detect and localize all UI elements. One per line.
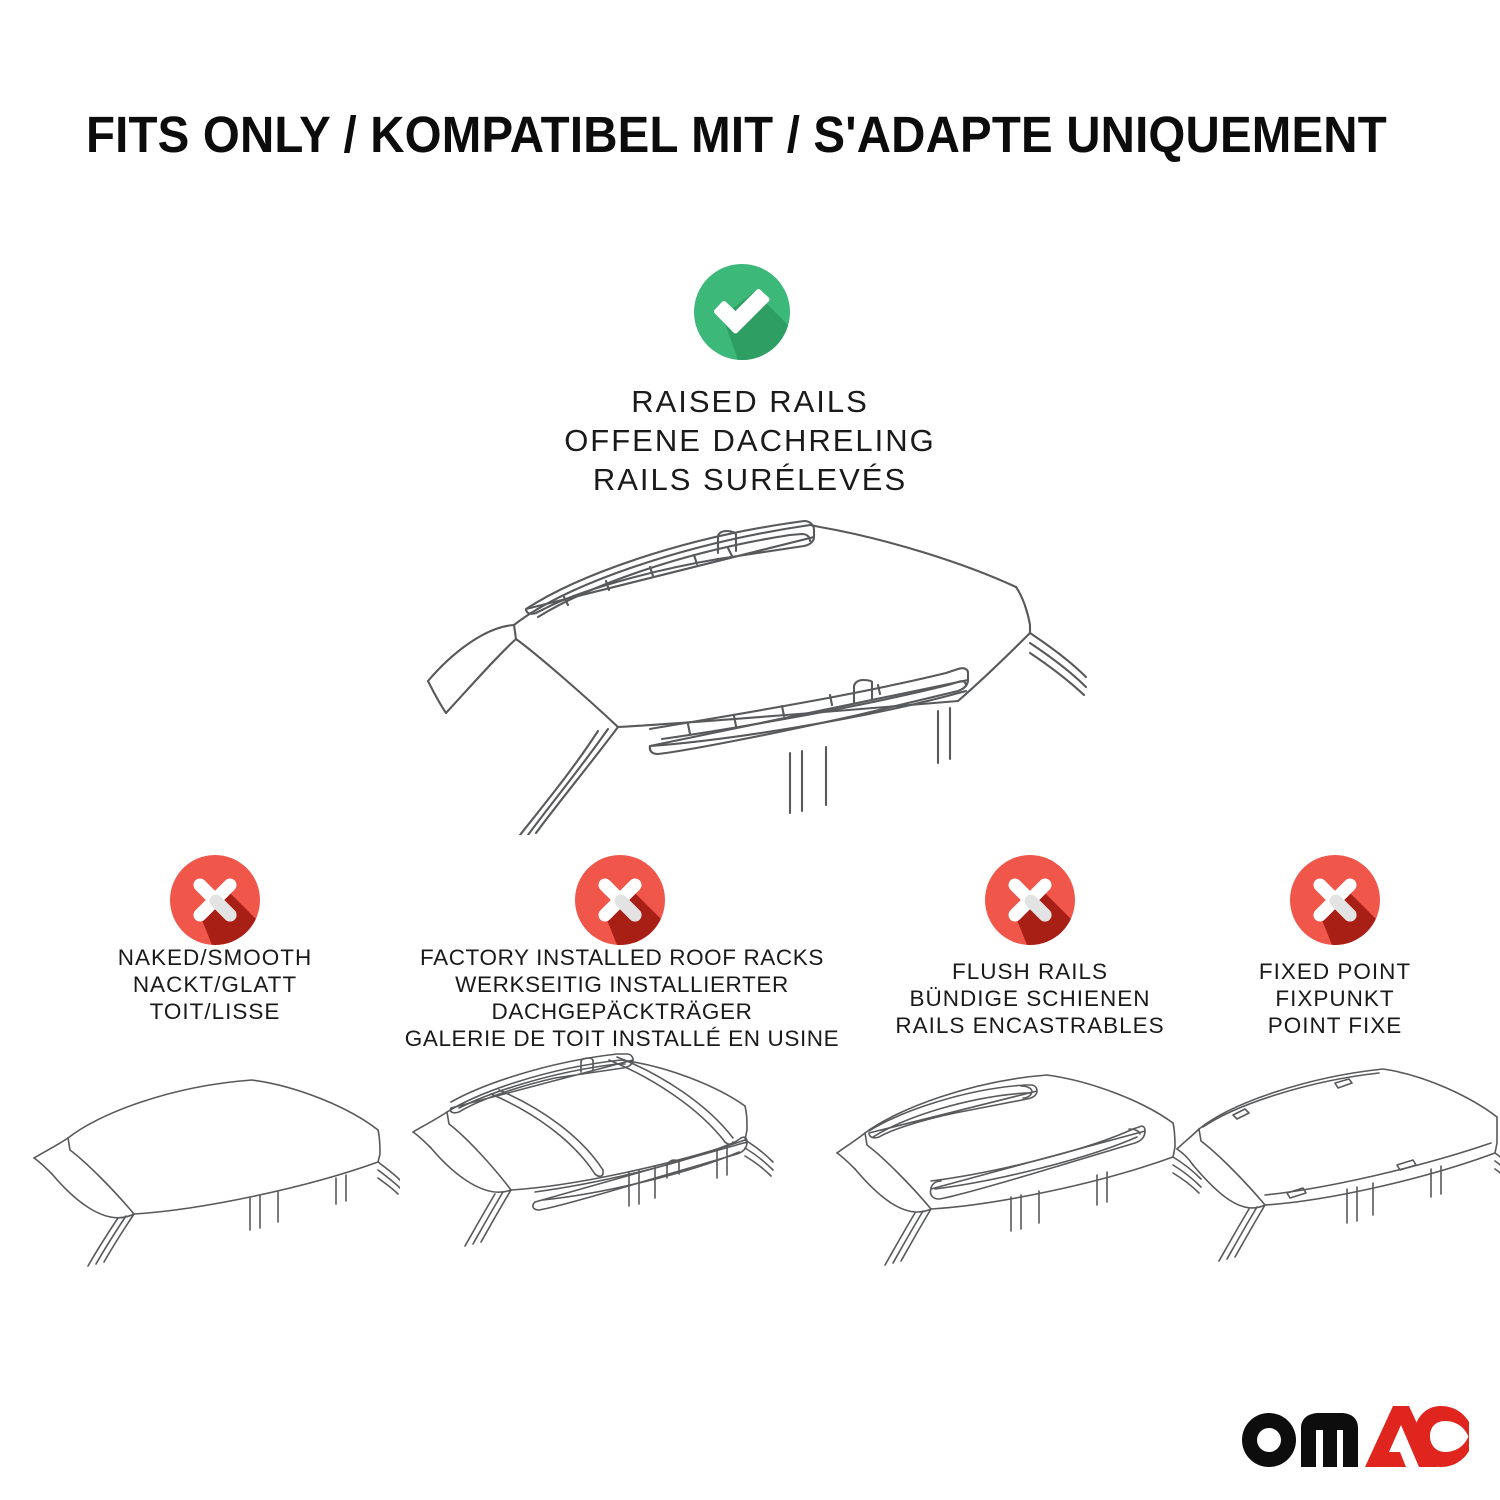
- cross-circle-icon: [1290, 855, 1380, 945]
- page-title: FITS ONLY / KOMPATIBEL MIT / S'ADAPTE UN…: [86, 108, 1332, 162]
- car-roof-flush-rails-illustration: [835, 1055, 1205, 1310]
- logo-letter-c: [1414, 1406, 1469, 1467]
- caption-line: DACHGEPÄCKTRÄGER: [392, 998, 852, 1025]
- cross-circle-icon: [575, 855, 665, 945]
- incompatible-caption-fixed: FIXED POINT FIXPUNKT POINT FIXE: [1185, 958, 1485, 1039]
- omac-logo: [1237, 1404, 1469, 1468]
- cross-circle-icon: [985, 855, 1075, 945]
- car-roof-raised-rails-illustration: [418, 505, 1090, 835]
- caption-line: RAILS ENCASTRABLES: [855, 1012, 1205, 1039]
- caption-line: FIXED POINT: [1185, 958, 1485, 985]
- incompatible-caption-naked: NAKED/SMOOTH NACKT/GLATT TOIT/LISSE: [30, 944, 400, 1025]
- logo-letter-o: [1242, 1413, 1296, 1467]
- caption-line: WERKSEITIG INSTALLIERTER: [392, 971, 852, 998]
- car-roof-naked-smooth-illustration: [30, 1058, 400, 1308]
- caption-line: RAISED RAILS: [450, 382, 1050, 421]
- incompatible-caption-factory: FACTORY INSTALLED ROOF RACKS WERKSEITIG …: [392, 944, 852, 1052]
- caption-line: POINT FIXE: [1185, 1012, 1485, 1039]
- caption-line: TOIT/LISSE: [30, 998, 400, 1025]
- caption-line: BÜNDIGE SCHIENEN: [855, 985, 1205, 1012]
- fitment-infographic: FITS ONLY / KOMPATIBEL MIT / S'ADAPTE UN…: [0, 0, 1500, 1500]
- caption-line: NAKED/SMOOTH: [30, 944, 400, 971]
- compatible-caption: RAISED RAILS OFFENE DACHRELING RAILS SUR…: [450, 382, 1050, 499]
- caption-line: OFFENE DACHRELING: [450, 421, 1050, 460]
- check-circle-icon: [694, 264, 790, 360]
- caption-line: RAILS SURÉLEVÉS: [450, 460, 1050, 499]
- logo-letter-m: [1301, 1413, 1358, 1467]
- caption-line: FLUSH RAILS: [855, 958, 1205, 985]
- incompatible-caption-flush: FLUSH RAILS BÜNDIGE SCHIENEN RAILS ENCAS…: [855, 958, 1205, 1039]
- caption-line: NACKT/GLATT: [30, 971, 400, 998]
- cross-circle-icon: [170, 855, 260, 945]
- car-roof-factory-racks-illustration: [405, 1050, 775, 1308]
- caption-line: FIXPUNKT: [1185, 985, 1485, 1012]
- caption-line: GALERIE DE TOIT INSTALLÉ EN USINE: [392, 1025, 852, 1052]
- caption-line: FACTORY INSTALLED ROOF RACKS: [392, 944, 852, 971]
- car-roof-fixed-point-illustration: [1175, 1055, 1500, 1310]
